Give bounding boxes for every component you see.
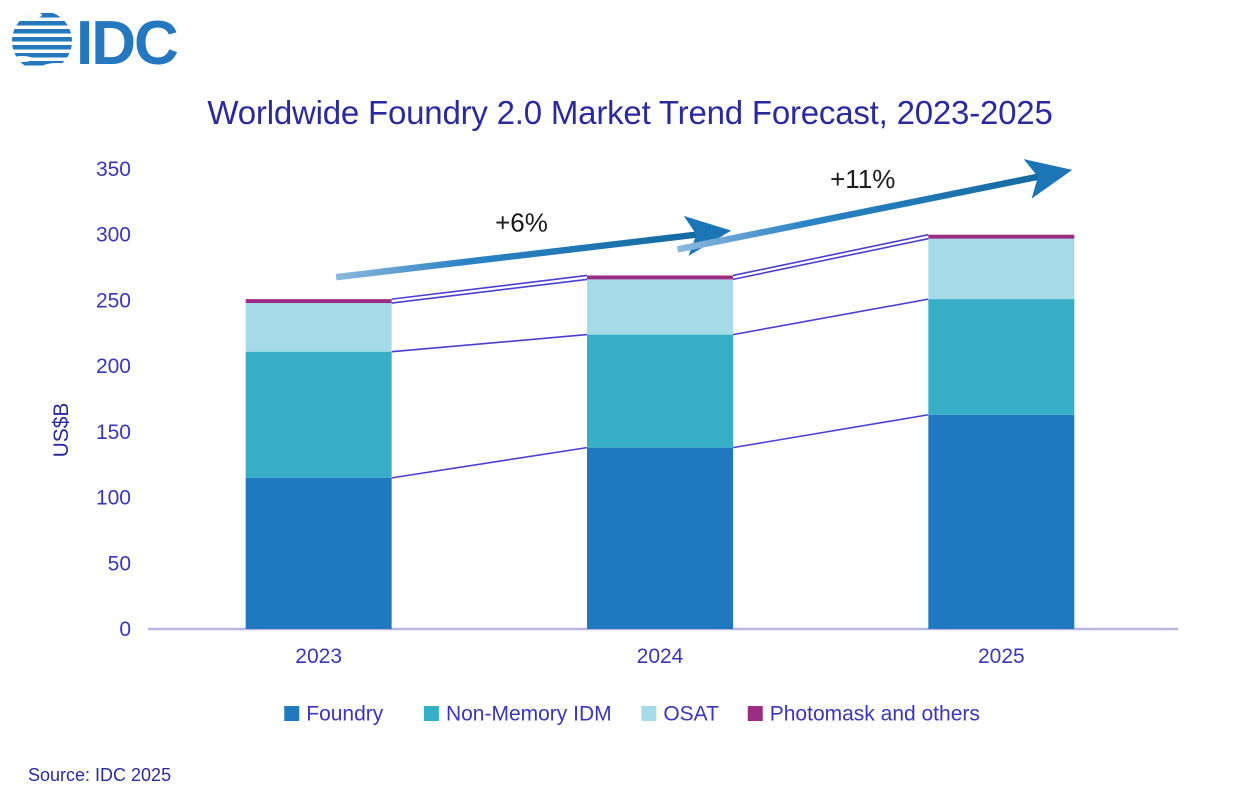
legend-label: OSAT bbox=[663, 703, 719, 726]
bar-segment[interactable] bbox=[587, 335, 733, 448]
y-axis-title: US$B bbox=[50, 403, 73, 458]
slide-canvas: IDC Worldwide Foundry 2.0 Market Trend F… bbox=[0, 0, 1260, 800]
legend-item[interactable]: OSAT bbox=[641, 703, 719, 726]
legend-label: Non-Memory IDM bbox=[446, 703, 612, 726]
y-axis-tick-label: 250 bbox=[96, 289, 131, 312]
growth-rate-label: +11% bbox=[830, 164, 895, 194]
page-title: Worldwide Foundry 2.0 Market Trend Forec… bbox=[0, 94, 1260, 132]
y-axis: 050100150200250300350 bbox=[96, 158, 131, 641]
bar-segment[interactable] bbox=[928, 239, 1074, 299]
connector-line bbox=[733, 299, 928, 334]
growth-rate-label: +6% bbox=[495, 207, 548, 237]
legend-item[interactable]: Foundry bbox=[284, 703, 384, 726]
connector-line bbox=[392, 335, 587, 352]
x-axis-tick-label: 2025 bbox=[978, 645, 1025, 668]
arrow-icon bbox=[336, 233, 707, 277]
source-note: Source: IDC 2025 bbox=[28, 765, 171, 786]
connector-line bbox=[392, 279, 587, 303]
bar-segment[interactable] bbox=[928, 299, 1074, 415]
bar-segment[interactable] bbox=[587, 279, 733, 334]
growth-arrow-annotation: +6% bbox=[336, 207, 707, 277]
idc-logo: IDC bbox=[8, 8, 238, 76]
connector-line bbox=[733, 235, 928, 276]
legend-label: Photomask and others bbox=[770, 703, 980, 726]
x-axis-tick-label: 2023 bbox=[295, 645, 342, 668]
chart-legend: FoundryNon-Memory IDMOSATPhotomask and o… bbox=[284, 703, 980, 726]
x-axis-tick-label: 2024 bbox=[637, 645, 684, 668]
bar-segment[interactable] bbox=[246, 478, 392, 629]
bar-column[interactable] bbox=[587, 275, 733, 629]
bar-segment[interactable] bbox=[246, 299, 392, 303]
connector-line bbox=[733, 239, 928, 280]
legend-swatch bbox=[641, 706, 656, 721]
y-axis-tick-label: 350 bbox=[96, 158, 131, 181]
legend-label: Foundry bbox=[306, 703, 384, 726]
bar-segment[interactable] bbox=[928, 235, 1074, 239]
x-axis-category-labels: 202320242025 bbox=[295, 645, 1024, 668]
y-axis-tick-label: 50 bbox=[108, 552, 131, 575]
y-axis-tick-label: 100 bbox=[96, 487, 131, 510]
striped-globe-icon bbox=[10, 11, 74, 71]
y-axis-tick-label: 150 bbox=[96, 421, 131, 444]
legend-item[interactable]: Photomask and others bbox=[748, 703, 980, 726]
connector-line bbox=[733, 415, 928, 448]
bar-segment[interactable] bbox=[587, 275, 733, 279]
bar-column[interactable] bbox=[246, 299, 392, 629]
bar-segment[interactable] bbox=[587, 448, 733, 629]
legend-swatch bbox=[284, 706, 299, 721]
bars-group bbox=[246, 235, 1075, 629]
bar-segment[interactable] bbox=[928, 415, 1074, 629]
y-axis-tick-label: 0 bbox=[119, 618, 131, 641]
y-axis-tick-label: 200 bbox=[96, 355, 131, 378]
connector-line bbox=[392, 275, 587, 299]
stacked-bar-chart: 050100150200250300350 US$B 202320242025 … bbox=[0, 140, 1260, 740]
legend-item[interactable]: Non-Memory IDM bbox=[424, 703, 612, 726]
logo-wordmark: IDC bbox=[76, 9, 178, 76]
bar-column[interactable] bbox=[928, 235, 1074, 629]
bar-segment[interactable] bbox=[246, 303, 392, 352]
bar-segment[interactable] bbox=[246, 352, 392, 478]
legend-swatch bbox=[424, 706, 439, 721]
y-axis-tick-label: 300 bbox=[96, 224, 131, 247]
connector-line bbox=[392, 448, 587, 478]
legend-swatch bbox=[748, 706, 763, 721]
